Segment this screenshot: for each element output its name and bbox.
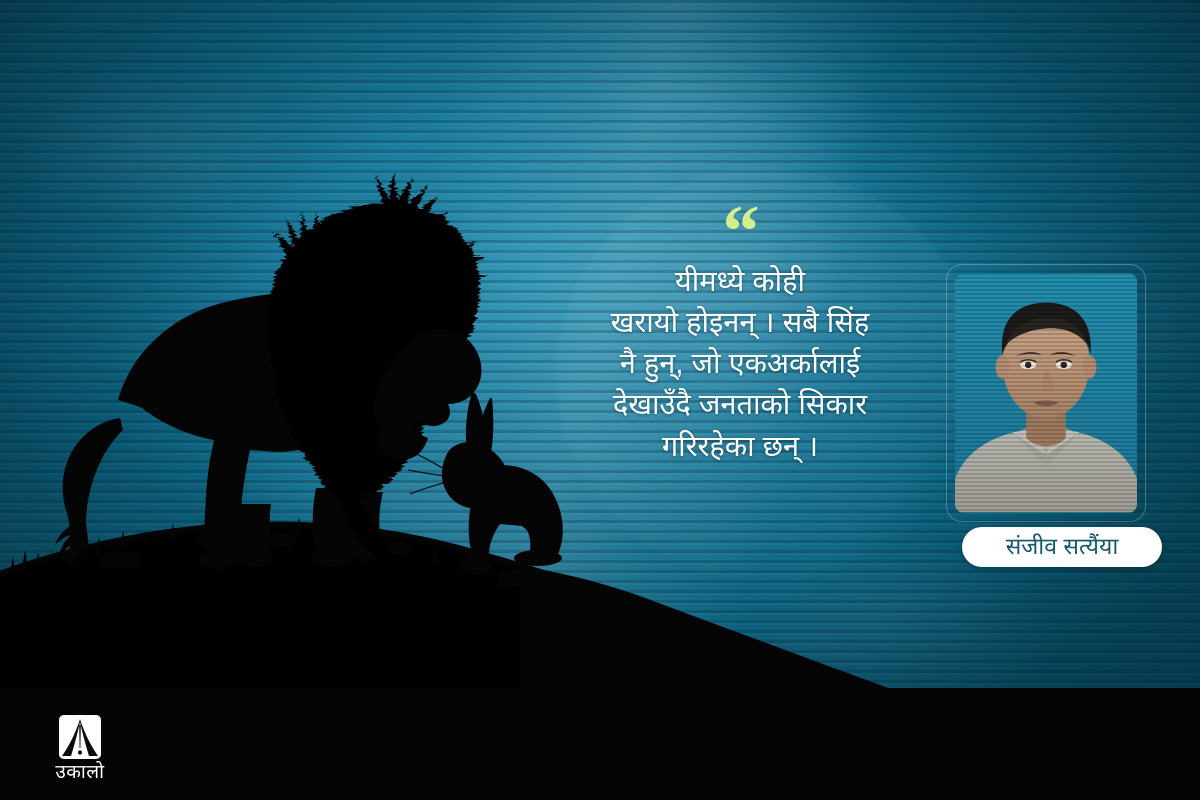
quote-line: नै हुन्, जो एकअर्कालाई <box>520 344 960 385</box>
quote-block: “ यीमध्ये कोही खरायो होइनन् । सबै सिंह न… <box>520 210 960 468</box>
quote-line: खरायो होइनन् । सबै सिंह <box>520 303 960 344</box>
avatar <box>955 273 1137 513</box>
quote-open-mark: “ <box>520 210 960 256</box>
footer-band <box>0 688 1200 800</box>
quote-card: उकालो “ यीमध्ये कोही खरायो होइनन् । सबै … <box>0 0 1200 800</box>
uphill-road-icon <box>59 715 101 759</box>
quote-text: यीमध्ये कोही खरायो होइनन् । सबै सिंह नै … <box>520 262 960 468</box>
quote-line: यीमध्ये कोही <box>520 262 960 303</box>
quote-line: देखाउँदै जनताको सिकार <box>520 385 960 426</box>
lion-silhouette <box>55 172 488 569</box>
portrait-frame <box>946 264 1146 522</box>
speaker-name-badge: संजीव सत्यैंया <box>962 527 1162 567</box>
quote-line: गरिरहेका छन् । <box>520 427 960 468</box>
brand-wordmark: उकालो <box>55 763 104 782</box>
brand-logo[interactable]: उकालो <box>40 715 120 782</box>
portrait-scanline-overlay <box>955 273 1137 513</box>
